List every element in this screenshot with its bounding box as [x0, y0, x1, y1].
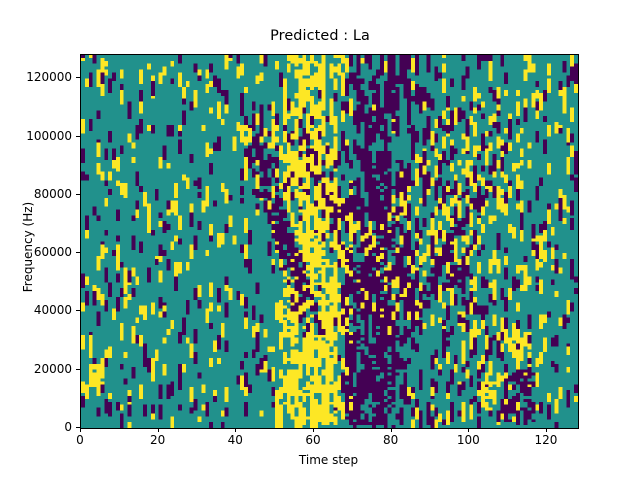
- y-tick-label: 60000: [34, 245, 72, 259]
- figure-canvas: Predicted : La 0200004000060000800001000…: [0, 0, 640, 480]
- y-tick-label: 80000: [34, 187, 72, 201]
- y-tick-mark: [76, 136, 80, 137]
- y-tick-mark: [76, 369, 80, 370]
- y-tick-mark: [76, 310, 80, 311]
- y-tick-mark: [76, 77, 80, 78]
- x-tick-mark: [468, 428, 469, 432]
- x-tick-label: 100: [457, 433, 480, 447]
- y-tick-label: 0: [64, 420, 72, 434]
- x-tick-label: 40: [228, 433, 243, 447]
- y-axis-label: Frequency (Hz): [21, 127, 35, 367]
- y-tick-label: 40000: [34, 303, 72, 317]
- y-tick-label: 20000: [34, 362, 72, 376]
- y-tick-mark: [76, 194, 80, 195]
- page-title: Predicted : La: [0, 28, 640, 44]
- x-tick-mark: [80, 428, 81, 432]
- x-tick-label: 60: [305, 433, 320, 447]
- x-tick-label: 20: [150, 433, 165, 447]
- x-tick-label: 0: [76, 433, 84, 447]
- x-tick-mark: [391, 428, 392, 432]
- heatmap-axes[interactable]: [80, 54, 579, 429]
- x-tick-label: 120: [534, 433, 557, 447]
- x-tick-label: 80: [383, 433, 398, 447]
- heatmap-image: [81, 55, 578, 428]
- y-tick-label: 120000: [26, 70, 72, 84]
- x-tick-mark: [546, 428, 547, 432]
- x-tick-mark: [235, 428, 236, 432]
- x-axis-label: Time step: [80, 453, 577, 467]
- y-tick-mark: [76, 252, 80, 253]
- x-tick-mark: [313, 428, 314, 432]
- x-tick-mark: [158, 428, 159, 432]
- y-tick-mark: [76, 427, 80, 428]
